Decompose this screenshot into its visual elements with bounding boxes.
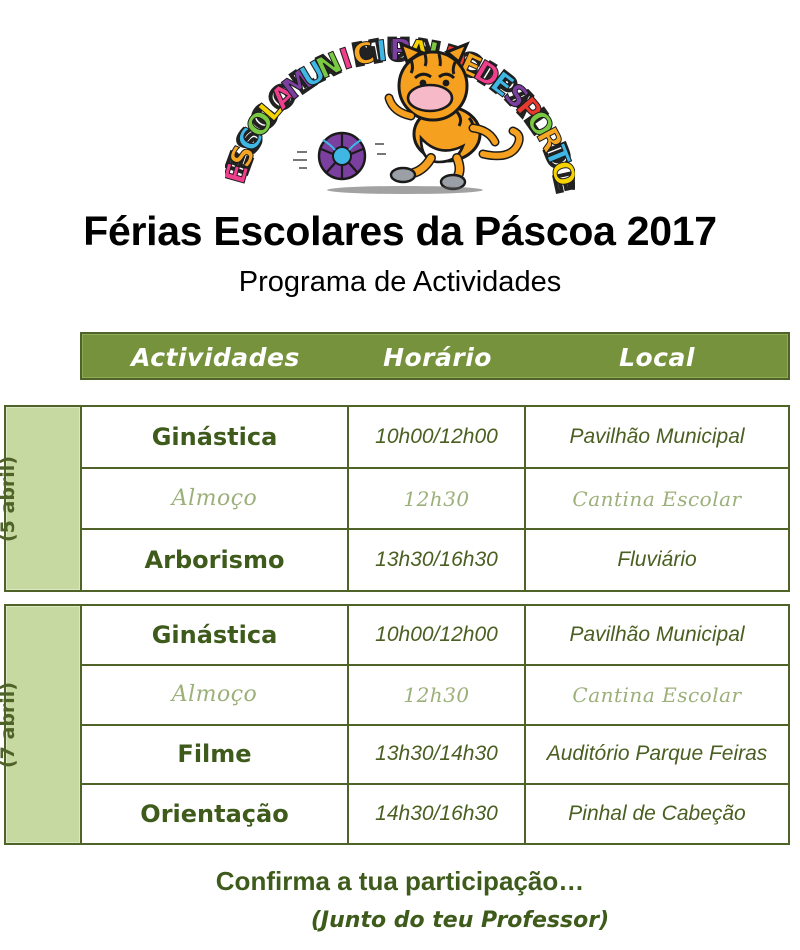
cell-time: 10h00/12h00 — [349, 606, 526, 664]
ground-shadow — [327, 186, 483, 194]
day-rows: Ginástica10h00/12h00Pavilhão MunicipalAl… — [82, 407, 788, 590]
place-text: Cantina Escolar — [572, 683, 741, 707]
activity-text: Arborismo — [145, 546, 285, 574]
footer-teacher-note: (Junto do teu Professor) — [0, 908, 800, 933]
cell-place: Pinhal de Cabeção — [526, 785, 788, 843]
cell-time: 12h30 — [349, 666, 526, 724]
cell-place: Auditório Parque Feiras — [526, 726, 788, 784]
time-text: 12h30 — [403, 683, 469, 707]
place-text: Pinhal de Cabeção — [568, 802, 745, 826]
place-text: Auditório Parque Feiras — [547, 742, 768, 766]
time-text: 13h30/14h30 — [375, 742, 498, 766]
table-row: Arborismo13h30/16h30Fluviário — [82, 530, 788, 590]
logo-header: ESCOLA MUNICIPAL DE DESPORTO ESCOLAMUNIC… — [0, 0, 800, 196]
day-date: (7 abril) — [0, 650, 142, 800]
day-label-2: Sexta-Feira(7 abril) — [6, 606, 82, 843]
table-row: Orientação14h30/16h30Pinhal de Cabeção — [82, 785, 788, 843]
activity-text: Ginástica — [152, 423, 278, 451]
table-row: Ginástica10h00/12h00Pavilhão Municipal — [82, 407, 788, 469]
cell-place: Pavilhão Municipal — [526, 407, 788, 467]
day-label-1: Quarta-Feira(5 abril) — [6, 407, 82, 590]
time-text: 10h00/12h00 — [375, 425, 498, 449]
cell-place: Fluviário — [526, 530, 788, 590]
time-text: 10h00/12h00 — [375, 623, 498, 647]
place-text: Cantina Escolar — [572, 487, 741, 511]
cell-time: 13h30/14h30 — [349, 726, 526, 784]
cell-time: 13h30/16h30 — [349, 530, 526, 590]
column-header-local: Local — [526, 334, 788, 382]
day-date: (5 abril) — [0, 424, 142, 574]
cell-time: 10h00/12h00 — [349, 407, 526, 467]
time-text: 12h30 — [403, 487, 469, 511]
place-text: Pavilhão Municipal — [569, 623, 744, 647]
column-header-actividades: Actividades — [82, 334, 349, 382]
table-header-bar: Actividades Horário Local — [80, 332, 790, 380]
day-rows: Ginástica10h00/12h00Pavilhão MunicipalAl… — [82, 606, 788, 843]
activity-text: Filme — [177, 740, 251, 768]
table-row: Filme13h30/14h30Auditório Parque Feiras — [82, 726, 788, 786]
activity-text: Almoço — [172, 486, 258, 511]
cell-time: 12h30 — [349, 469, 526, 529]
page-title: Férias Escolares da Páscoa 2017 — [0, 208, 800, 255]
activity-text: Ginástica — [152, 621, 278, 649]
cell-place: Cantina Escolar — [526, 469, 788, 529]
table-row: Almoço12h30Cantina Escolar — [82, 666, 788, 726]
table-row: Almoço12h30Cantina Escolar — [82, 469, 788, 531]
cell-time: 14h30/16h30 — [349, 785, 526, 843]
time-text: 14h30/16h30 — [375, 802, 498, 826]
page-subtitle: Programa de Actividades — [0, 266, 800, 299]
cell-place: Pavilhão Municipal — [526, 606, 788, 664]
activity-text: Orientação — [140, 800, 288, 828]
footer-confirm-text: Confirma a tua participação… — [0, 866, 800, 897]
column-header-horario: Horário — [349, 334, 526, 382]
place-text: Pavilhão Municipal — [569, 425, 744, 449]
day-block-quarta-feira: Quarta-Feira(5 abril)Ginástica10h00/12h0… — [4, 405, 790, 592]
day-block-sexta-feira: Sexta-Feira(7 abril)Ginástica10h00/12h00… — [4, 604, 790, 845]
activity-text: Almoço — [172, 682, 258, 707]
time-text: 13h30/16h30 — [375, 548, 498, 572]
table-row: Ginástica10h00/12h00Pavilhão Municipal — [82, 606, 788, 666]
place-text: Fluviário — [617, 548, 696, 572]
football-icon — [319, 133, 365, 179]
cell-place: Cantina Escolar — [526, 666, 788, 724]
escola-municipal-de-desporto-logo: ESCOLA MUNICIPAL DE DESPORTO ESCOLAMUNIC… — [225, 4, 575, 194]
